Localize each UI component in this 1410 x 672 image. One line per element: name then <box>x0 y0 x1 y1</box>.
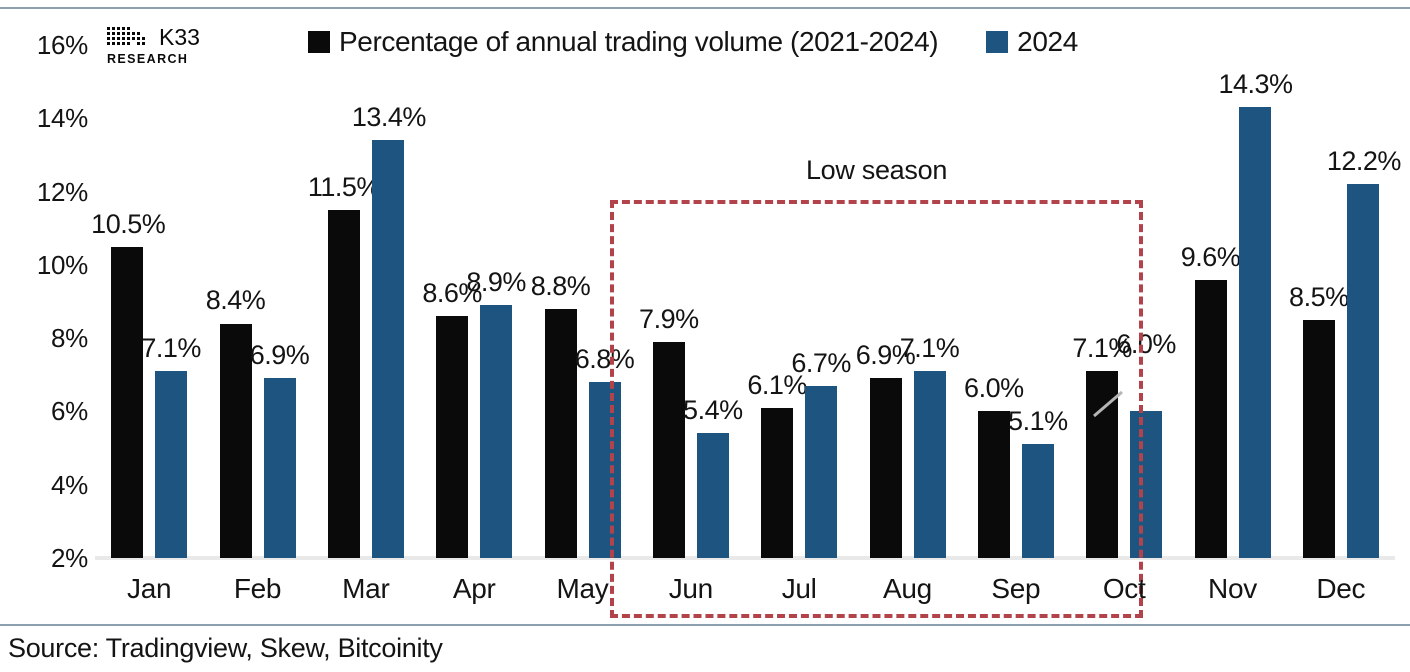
x-axis-label-jul: Jul <box>745 575 853 603</box>
bar-value-label: 8.8% <box>525 273 597 300</box>
bar-mar-2024[interactable] <box>372 140 404 558</box>
x-axis-label-feb: Feb <box>203 575 311 603</box>
source-note: Source: Tradingview, Skew, Bitcoinity <box>8 635 443 662</box>
bar-nov-average[interactable] <box>1195 280 1227 558</box>
x-axis-label-dec: Dec <box>1287 575 1395 603</box>
top-divider <box>0 7 1410 9</box>
x-axis-label-mar: Mar <box>312 575 420 603</box>
bar-mar-average[interactable] <box>328 210 360 558</box>
bar-dec-average[interactable] <box>1303 320 1335 558</box>
low-season-label: Low season <box>610 155 1143 186</box>
x-axis-label-jan: Jan <box>95 575 203 603</box>
bar-value-label: 6.9% <box>244 342 316 369</box>
x-axis-label-oct: Oct <box>1070 575 1178 603</box>
chart-container: K33 RESEARCH Percentage of annual tradin… <box>0 0 1410 672</box>
y-axis-tick: 12% <box>8 179 88 205</box>
bar-value-label: 14.3% <box>1219 71 1291 98</box>
bar-value-label: 8.4% <box>200 287 272 314</box>
bar-value-label: 11.5% <box>308 174 380 201</box>
y-axis: 2%4%6%8%10%12%14%16% <box>0 0 88 672</box>
y-axis-tick: 10% <box>8 252 88 278</box>
y-axis-tick: 16% <box>8 32 88 58</box>
y-axis-tick: 6% <box>8 398 88 424</box>
bar-value-label: 7.1% <box>135 335 207 362</box>
footer-divider <box>0 624 1410 626</box>
y-axis-tick: 4% <box>8 472 88 498</box>
low-season-box <box>610 200 1143 618</box>
bar-apr-average[interactable] <box>436 316 468 558</box>
bar-nov-2024[interactable] <box>1239 107 1271 558</box>
bar-value-label: 8.9% <box>460 269 532 296</box>
x-axis-label-may: May <box>528 575 636 603</box>
bar-value-label: 10.5% <box>91 211 163 238</box>
bar-dec-2024[interactable] <box>1347 184 1379 558</box>
bar-apr-2024[interactable] <box>480 305 512 558</box>
x-axis-label-aug: Aug <box>853 575 961 603</box>
bar-value-label: 12.2% <box>1327 148 1399 175</box>
bar-value-label: 8.5% <box>1283 284 1355 311</box>
y-axis-tick: 8% <box>8 325 88 351</box>
bar-value-label: 13.4% <box>352 104 424 131</box>
bar-feb-2024[interactable] <box>264 378 296 558</box>
x-axis-label-jun: Jun <box>637 575 745 603</box>
x-axis-label-apr: Apr <box>420 575 528 603</box>
y-axis-tick: 2% <box>8 545 88 571</box>
x-axis-label-sep: Sep <box>962 575 1070 603</box>
bar-value-label: 9.6% <box>1175 244 1247 271</box>
bar-jan-average[interactable] <box>111 247 143 558</box>
x-axis-label-nov: Nov <box>1178 575 1286 603</box>
bar-jan-2024[interactable] <box>155 371 187 558</box>
y-axis-tick: 14% <box>8 105 88 131</box>
